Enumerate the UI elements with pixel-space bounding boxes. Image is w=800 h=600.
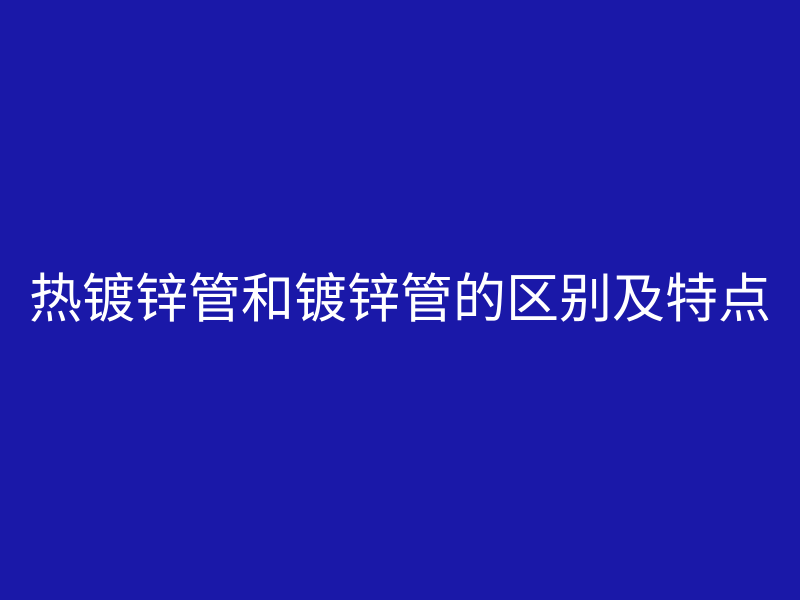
page-title: 热镀锌管和镀锌管的区别及特点 <box>29 271 771 328</box>
title-card: 热镀锌管和镀锌管的区别及特点 <box>0 0 800 600</box>
headline-container: 热镀锌管和镀锌管的区别及特点 <box>0 271 800 328</box>
